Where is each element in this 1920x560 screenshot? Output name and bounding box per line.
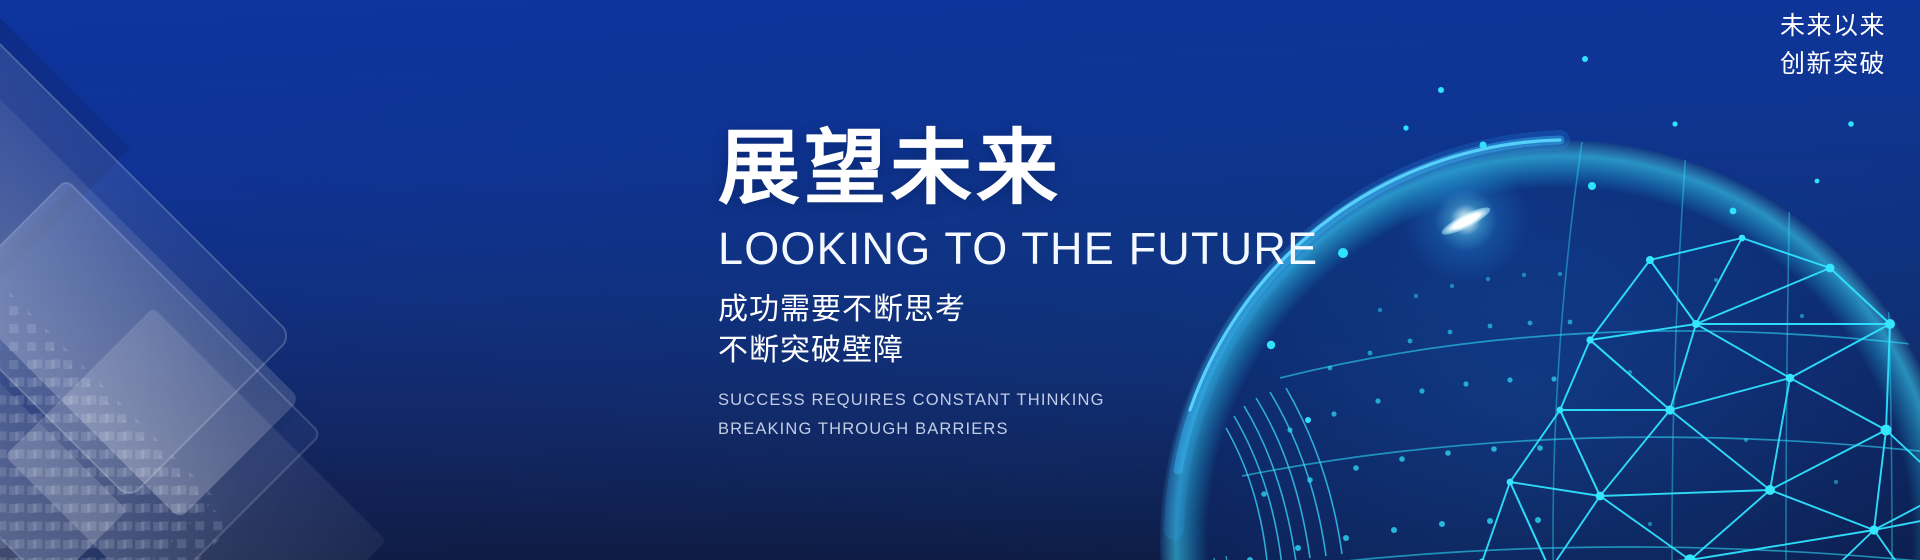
- headline-english: LOOKING TO THE FUTURE: [718, 226, 1478, 271]
- subtitle-chinese: 成功需要不断思考 不断突破壁障: [718, 289, 1478, 372]
- globe-network-nodes: [1462, 235, 1920, 560]
- diagonal-parallelogram-pattern: [0, 0, 640, 560]
- subtitle-chinese-line-2: 不断突破壁障: [718, 330, 1478, 371]
- promo-banner: 展望未来 LOOKING TO THE FUTURE 成功需要不断思考 不断突破…: [0, 0, 1920, 560]
- subtitle-chinese-line-1: 成功需要不断思考: [718, 289, 1478, 330]
- headline-block: 展望未来 LOOKING TO THE FUTURE 成功需要不断思考 不断突破…: [718, 128, 1478, 445]
- corner-tagline: 未来以来 创新突破: [1780, 8, 1886, 83]
- globe-network-mesh: [1466, 238, 1920, 560]
- page-title: 展望未来: [718, 128, 1478, 210]
- subtitle-english: SUCCESS REQUIRES CONSTANT THINKING BREAK…: [718, 386, 1478, 445]
- corner-tagline-line-1: 未来以来: [1780, 8, 1886, 46]
- subtitle-english-line-2: BREAKING THROUGH BARRIERS: [718, 415, 1478, 444]
- diagonal-dot-grid: [0, 286, 216, 560]
- corner-tagline-line-2: 创新突破: [1780, 46, 1886, 84]
- subtitle-english-line-1: SUCCESS REQUIRES CONSTANT THINKING: [718, 386, 1478, 415]
